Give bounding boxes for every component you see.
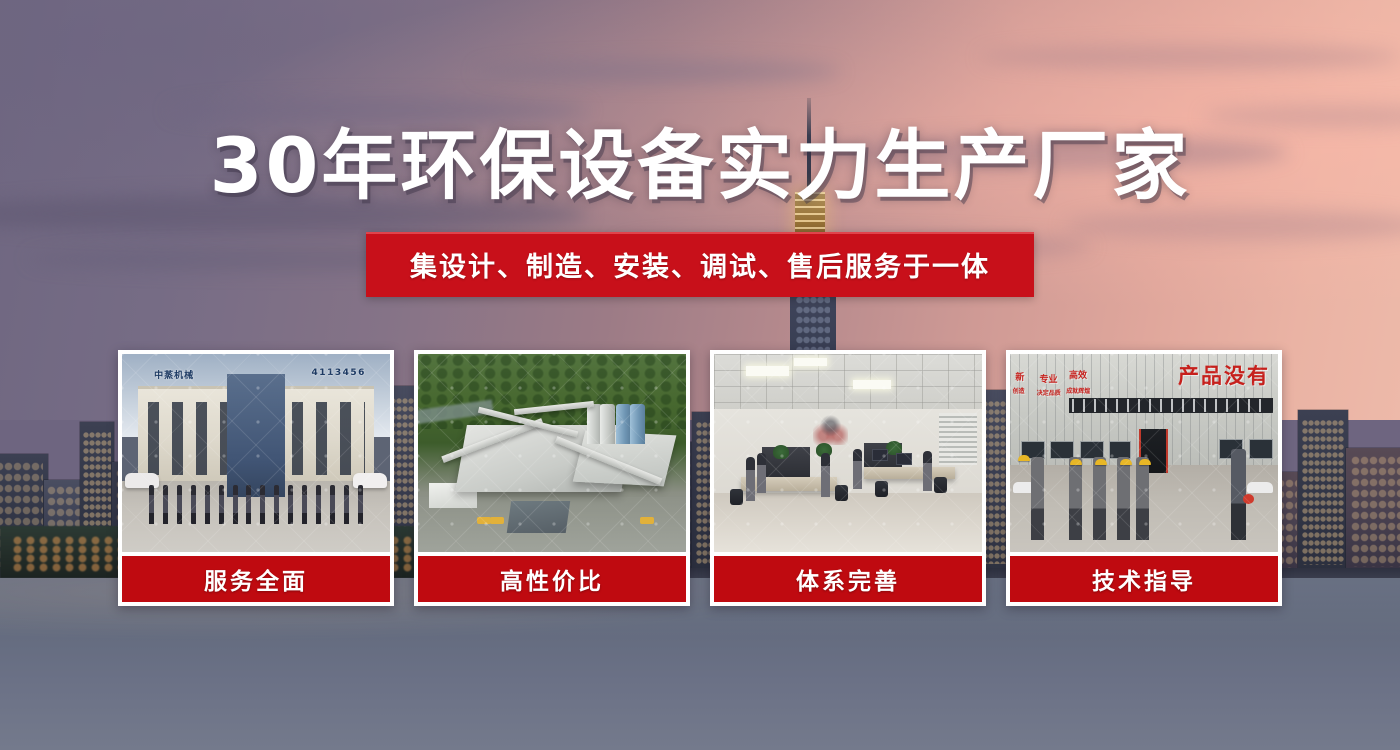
building-phone-number: 4113456 <box>312 368 366 378</box>
card-photo-plant-aerial <box>418 354 686 552</box>
subtitle-text: 集设计、制造、安装、调试、售后服务于一体 <box>410 245 990 284</box>
card-photo-workers-factory: 产品没有 新 专业 高效 创造 决定品质 成就辉煌 <box>1010 354 1278 552</box>
feature-card[interactable]: 高性价比 <box>414 350 690 606</box>
factory-slogan-sub: 决定品质 <box>1037 388 1061 397</box>
factory-slogan: 新 <box>1015 370 1024 383</box>
feature-card[interactable]: 体系完善 <box>710 350 986 606</box>
factory-big-sign: 产品没有 <box>1178 360 1270 390</box>
card-label: 服务全面 <box>122 556 390 602</box>
page-title: 30年环保设备实力生产厂家 <box>0 128 1400 204</box>
factory-slogan: 专业 <box>1039 372 1057 385</box>
factory-slogan-sub: 创造 <box>1013 386 1025 395</box>
card-photo-headquarters: 中蒸机械 4113456 <box>122 354 390 552</box>
factory-slogan: 高效 <box>1069 368 1087 381</box>
feature-card-row: 中蒸机械 4113456 服务全面 <box>118 350 1282 606</box>
card-photo-office-interior <box>714 354 982 552</box>
building-company-sign: 中蒸机械 <box>154 368 194 381</box>
staff-lineup <box>149 485 363 525</box>
promo-banner: 30年环保设备实力生产厂家 集设计、制造、安装、调试、售后服务于一体 中蒸机械 … <box>0 0 1400 750</box>
card-label: 体系完善 <box>714 556 982 602</box>
subtitle-banner: 集设计、制造、安装、调试、售后服务于一体 <box>366 232 1034 297</box>
card-label: 技术指导 <box>1010 556 1278 602</box>
feature-card[interactable]: 产品没有 新 专业 高效 创造 决定品质 成就辉煌 <box>1006 350 1282 606</box>
feature-card[interactable]: 中蒸机械 4113456 服务全面 <box>118 350 394 606</box>
factory-slogan-sub: 成就辉煌 <box>1066 386 1090 395</box>
card-label: 高性价比 <box>418 556 686 602</box>
